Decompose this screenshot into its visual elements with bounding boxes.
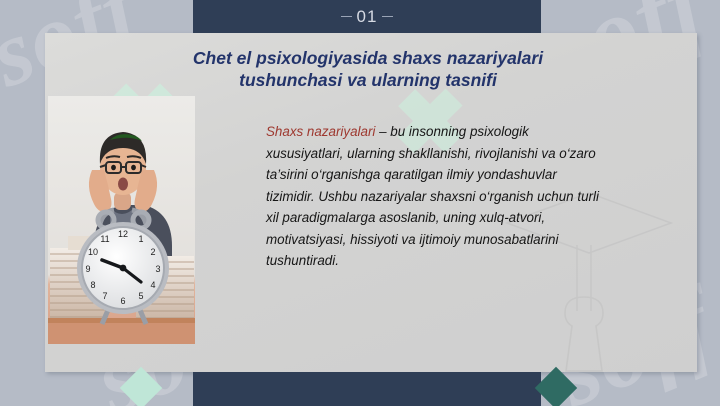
svg-text:1: 1 (138, 234, 143, 244)
svg-text:3: 3 (155, 264, 160, 274)
slide-footer-band (193, 372, 541, 406)
svg-text:4: 4 (150, 280, 155, 290)
svg-text:8: 8 (90, 280, 95, 290)
svg-text:2: 2 (150, 247, 155, 257)
svg-text:6: 6 (120, 296, 125, 306)
slide-number-label: 01 (357, 7, 378, 27)
svg-text:7: 7 (102, 291, 107, 301)
svg-text:11: 11 (100, 234, 109, 244)
slide-number-badge: 01 (341, 7, 394, 27)
dash-left-icon (341, 16, 352, 17)
mint-diamond-marker (120, 367, 162, 406)
slide-body-text: Shaxs nazariyalari – bu insonning psixol… (266, 121, 606, 272)
slide-photo: 12 1 2 3 4 5 6 7 8 9 10 11 (48, 96, 195, 344)
body-rest-text: – bu insonning psixologik xususiyatlari,… (266, 124, 599, 268)
svg-text:5: 5 (138, 291, 143, 301)
svg-text:9: 9 (85, 264, 90, 274)
svg-text:10: 10 (88, 247, 98, 257)
svg-text:12: 12 (118, 229, 128, 239)
slide-title: Chet el psixologiyasida shaxs nazariyala… (178, 47, 558, 91)
body-lede-term: Shaxs nazariyalari (266, 124, 375, 139)
teal-diamond-marker (535, 367, 577, 406)
dash-right-icon (382, 16, 393, 17)
slide-header-band: 01 (193, 0, 541, 33)
